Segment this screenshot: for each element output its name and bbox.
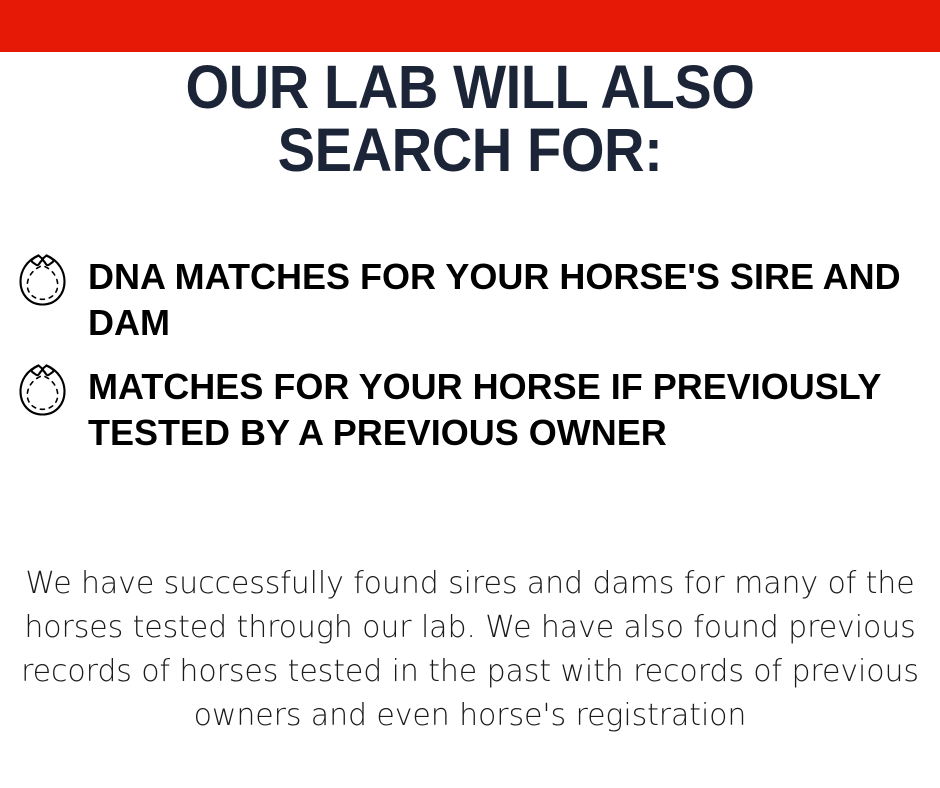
bullet-list: DNA MATCHES FOR YOUR HORSE'S SIRE AND DA… [0,248,940,468]
horseshoe-icon [12,358,88,422]
top-red-banner [0,0,940,52]
list-item-label: MATCHES FOR YOUR HORSE IF PREVIOUSLY TES… [88,364,940,456]
list-item-label: DNA MATCHES FOR YOUR HORSE'S SIRE AND DA… [88,254,940,346]
body-paragraph: We have successfully found sires and dam… [18,562,922,738]
list-item: DNA MATCHES FOR YOUR HORSE'S SIRE AND DA… [0,248,940,346]
slide-canvas: OUR LAB WILL ALSO SEARCH FOR: DNA MATCHE… [0,0,940,788]
horseshoe-icon [12,248,88,312]
list-item: MATCHES FOR YOUR HORSE IF PREVIOUSLY TES… [0,358,940,456]
page-title: OUR LAB WILL ALSO SEARCH FOR: [38,56,903,182]
